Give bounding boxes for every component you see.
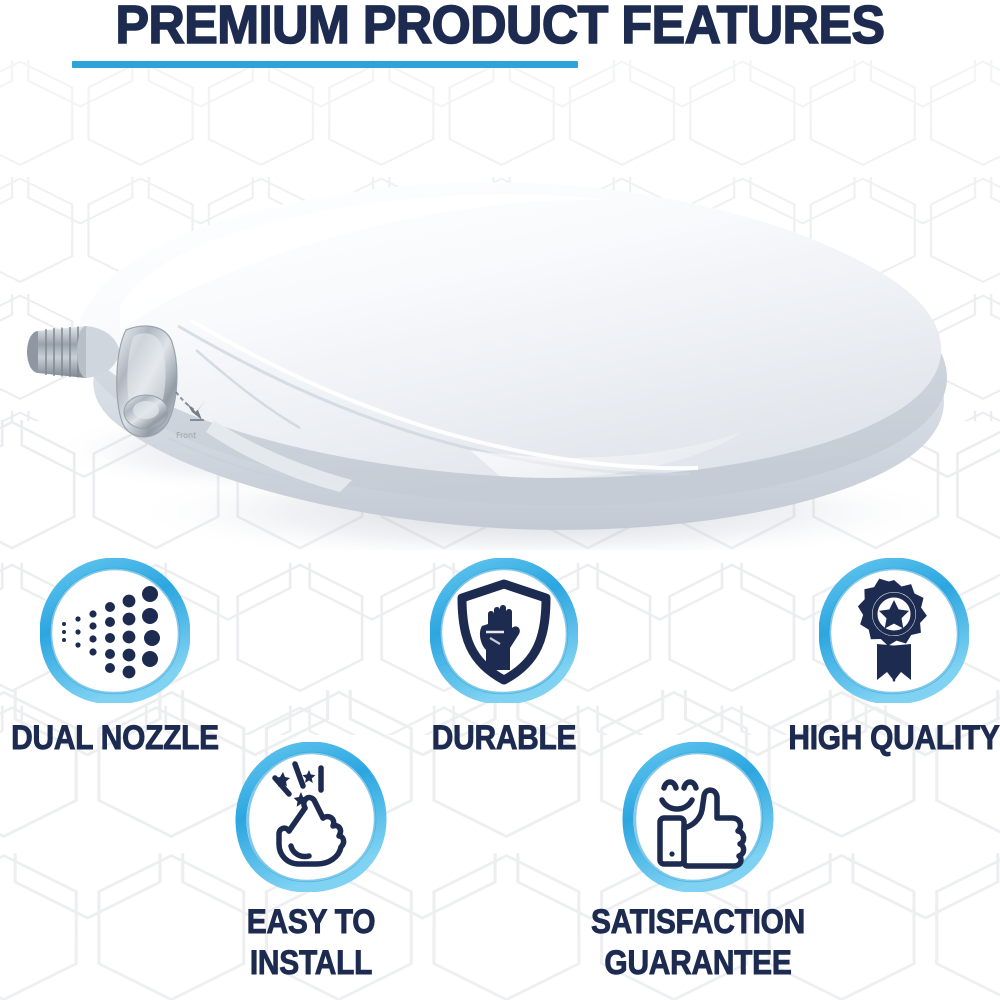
satisfaction-guarantee-blob: [622, 742, 774, 892]
dual-nozzle-blob: [40, 558, 190, 703]
feature-label-easy-to-install: EASY TO INSTALL: [179, 902, 443, 984]
feature-label-durable: DURABLE: [381, 718, 627, 758]
feature-dual-nozzle[interactable]: DUAL NOZZLE: [40, 558, 190, 703]
durable-blob: [430, 558, 578, 703]
svg-text:Front: Front: [176, 431, 196, 440]
feature-durable[interactable]: DURABLE: [430, 558, 578, 703]
feature-easy-to-install[interactable]: EASY TO INSTALL: [235, 742, 387, 892]
high-quality-blob: [819, 558, 969, 703]
page-title: PREMIUM PRODUCT FEATURES: [115, 0, 884, 54]
product-image-bidet-toilet-seat: Front: [0, 120, 1000, 550]
easy-to-install-blob: [235, 742, 387, 892]
feature-label-high-quality: HIGH QUALITY: [762, 718, 1000, 758]
feature-satisfaction-guarantee[interactable]: SATISFACTION GUARANTEE: [622, 742, 774, 892]
feature-label-line-2: GUARANTEE: [557, 943, 839, 984]
feature-label-dual-nozzle: DUAL NOZZLE: [0, 718, 238, 758]
header: PREMIUM PRODUCT FEATURES: [0, 0, 1000, 80]
water-inlet-connector: [27, 326, 120, 378]
title-underline-bar: [72, 61, 578, 68]
feature-label-line-2: INSTALL: [179, 943, 443, 984]
control-lever: [117, 326, 177, 437]
infographic-canvas: PREMIUM PRODUCT FEATURES: [0, 0, 1000, 1000]
feature-label-line-1: SATISFACTION: [557, 902, 839, 943]
feature-label-line-1: EASY TO: [179, 902, 443, 943]
feature-label-satisfaction-guarantee: SATISFACTION GUARANTEE: [557, 902, 839, 984]
feature-high-quality[interactable]: HIGH QUALITY: [819, 558, 969, 703]
